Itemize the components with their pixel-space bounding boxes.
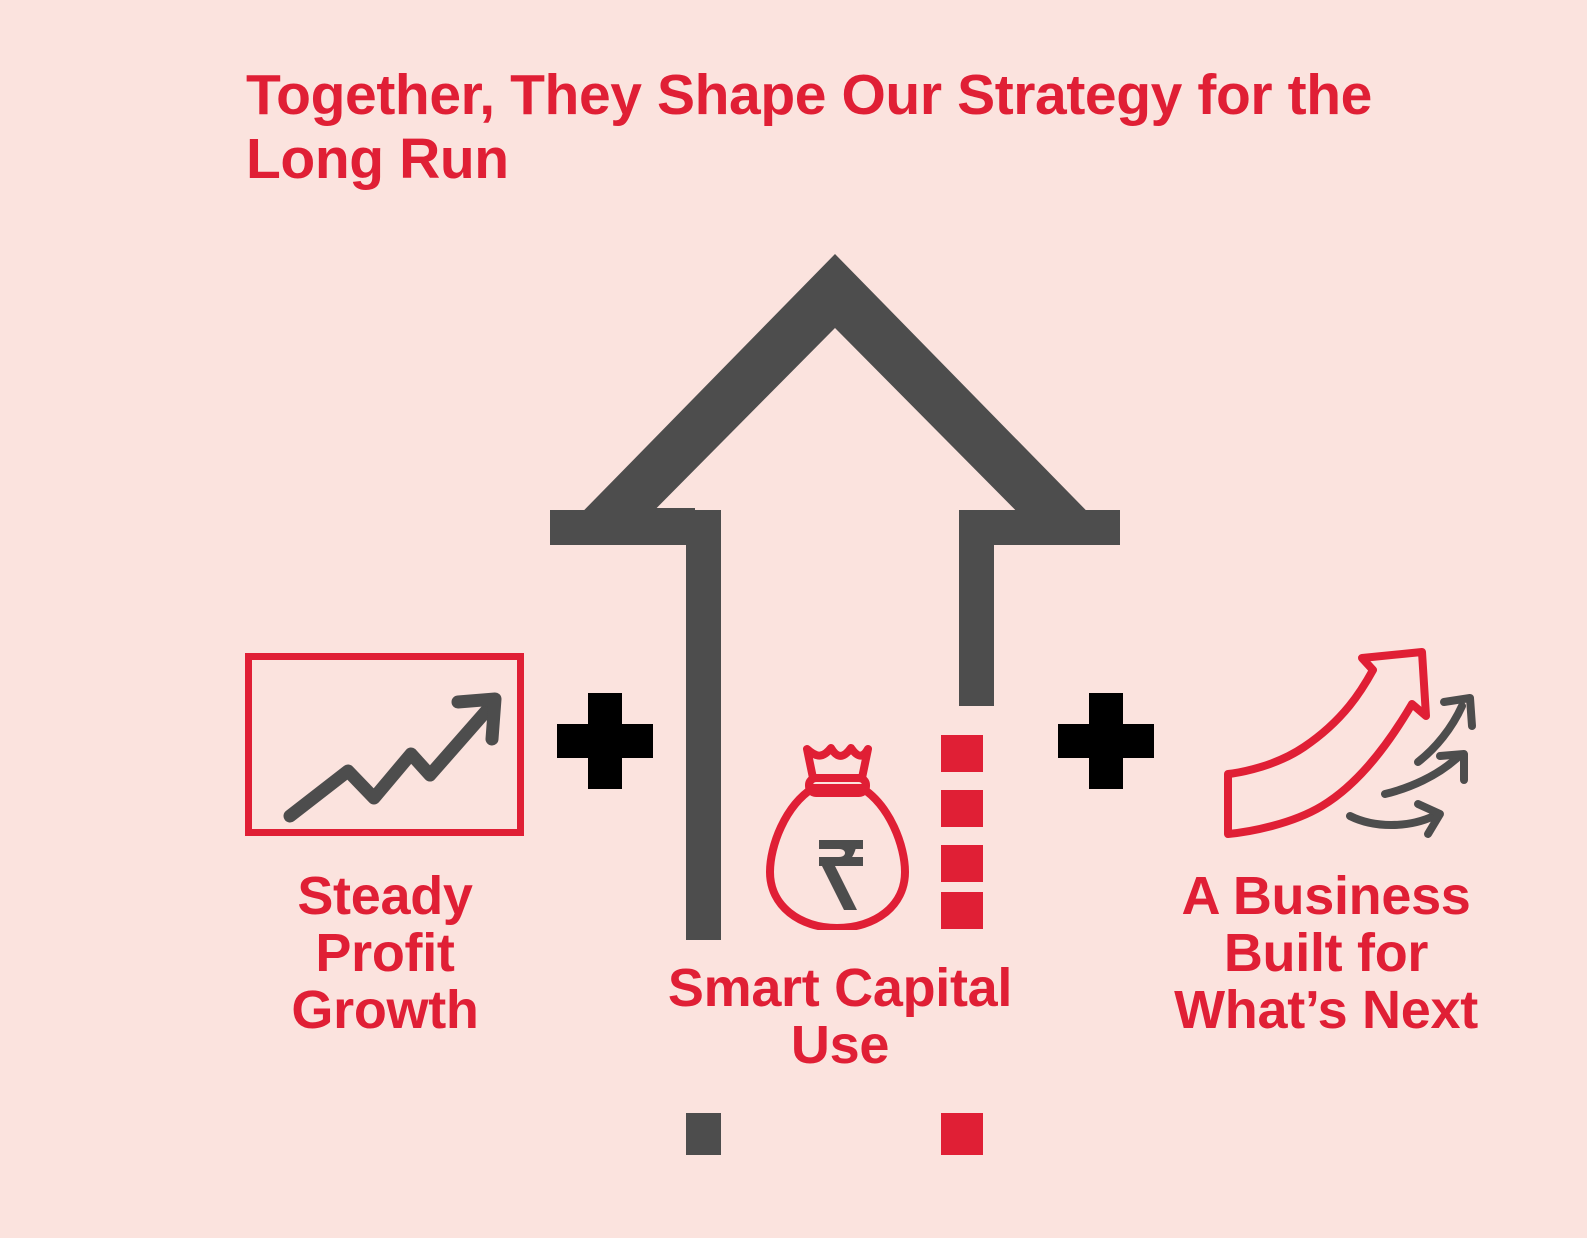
curved-arrows-growth-icon — [1222, 642, 1490, 842]
chart-growth-icon — [245, 653, 524, 836]
page-title: Together, They Shape Our Strategy for th… — [246, 63, 1446, 192]
infographic-canvas: Together, They Shape Our Strategy for th… — [0, 0, 1587, 1238]
shaft-dash-dark-1 — [686, 1113, 721, 1155]
pillar-label-business-built-for-whats-next: A Business Built for What’s Next — [1152, 868, 1500, 1040]
shaft-dash-red-5 — [941, 1113, 983, 1155]
pillar-label-steady-profit-growth: Steady Profit Growth — [230, 868, 540, 1040]
plus-operator-left — [557, 693, 653, 789]
shaft-dash-red-3 — [941, 845, 983, 882]
plus-operator-right — [1058, 693, 1154, 789]
pillar-label-smart-capital-use: Smart Capital Use — [640, 960, 1040, 1074]
money-bag-rupee-icon — [765, 740, 910, 930]
shaft-dash-red-2 — [941, 790, 983, 827]
shaft-dash-red-1 — [941, 735, 983, 772]
shaft-dash-red-4 — [941, 892, 983, 929]
